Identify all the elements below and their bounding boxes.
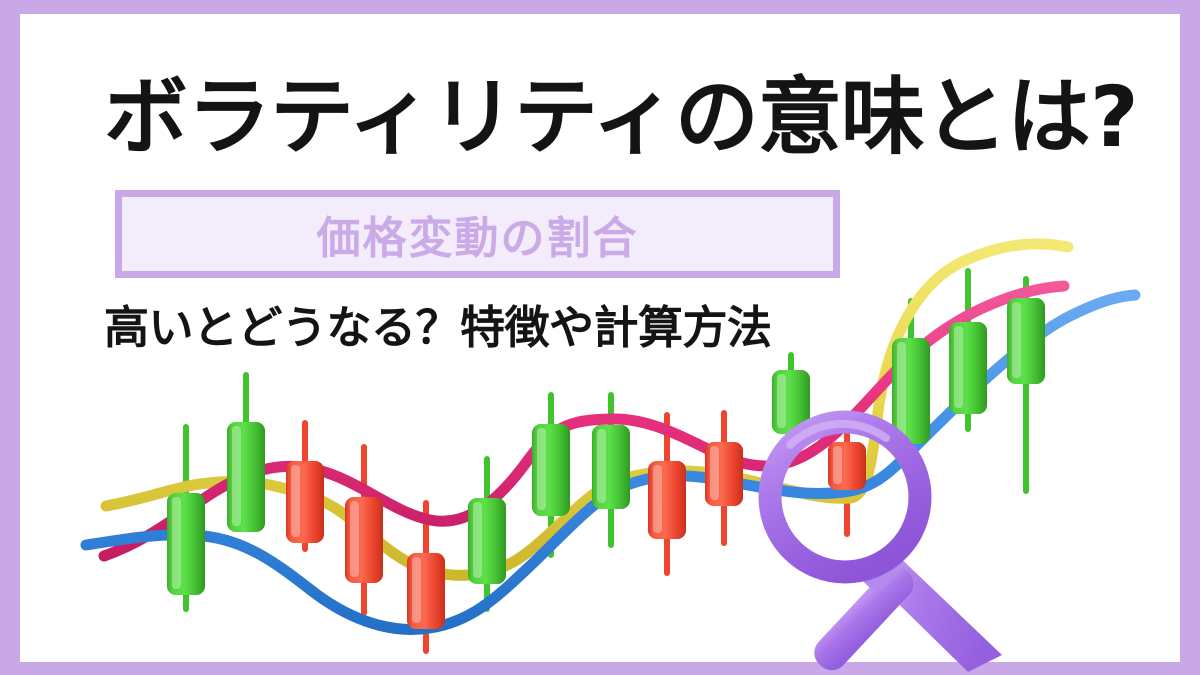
frame-band-bottom bbox=[0, 662, 1180, 675]
frame-band-top bbox=[20, 0, 1200, 14]
frame-band-left bbox=[0, 0, 20, 675]
frame-band-right bbox=[1180, 14, 1200, 675]
magnifying-glass-icon bbox=[770, 422, 1002, 675]
poster-canvas: ボラティリティの意味とは? 価格変動の割合 高いとどうなる？特徴や計算方法 bbox=[0, 0, 1200, 675]
tagline: 高いとどうなる？特徴や計算方法 bbox=[104, 300, 904, 356]
subtitle-box: 価格変動の割合 bbox=[115, 190, 840, 278]
subtitle-text: 価格変動の割合 bbox=[317, 202, 639, 266]
page-title: ボラティリティの意味とは? bbox=[104, 62, 1134, 172]
ma-yellow-line bbox=[106, 244, 1068, 576]
